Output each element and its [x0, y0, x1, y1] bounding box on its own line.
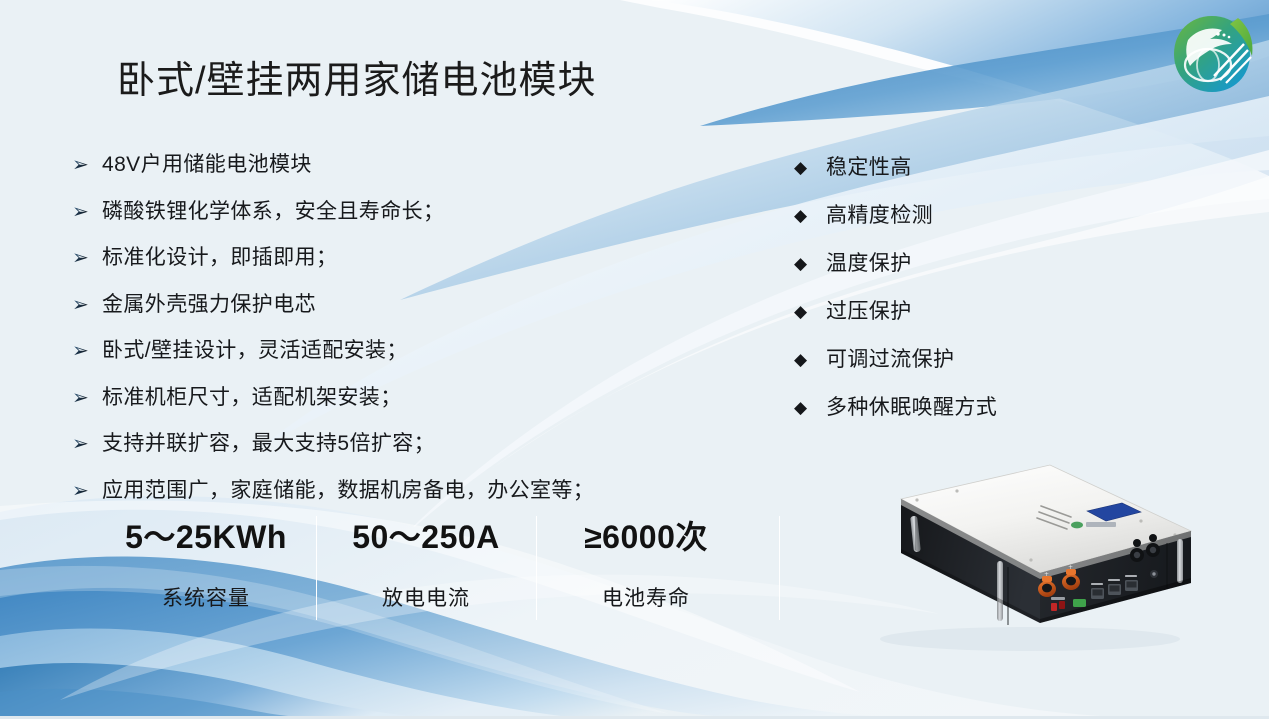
arrow-bullet-icon: ➢: [72, 338, 102, 364]
spec-label: 电池寿命: [602, 586, 690, 612]
list-item: ◆ 多种休眠唤醒方式: [794, 395, 1124, 421]
list-item: ◆ 稳定性高: [794, 155, 1124, 181]
list-item: ➢ 应用范围广，家庭储能，数据机房备电，办公室等；: [72, 478, 712, 504]
list-item-label: 支持并联扩容，最大支持5倍扩容；: [102, 431, 712, 457]
arrow-bullet-icon: ➢: [72, 199, 102, 225]
spec-highlights: 5～25KWh 系统容量 50～250A 放电电流 ≥6000次 电池寿命: [96, 516, 756, 622]
diamond-bullet-icon: ◆: [794, 395, 826, 421]
feature-list-right: ◆ 稳定性高 ◆ 高精度检测 ◆ 温度保护 ◆ 过压保护 ◆ 可调过流保护 ◆ …: [794, 155, 1124, 443]
spec-divider: [316, 516, 317, 620]
arrow-bullet-icon: ➢: [72, 152, 102, 178]
spec-item-cycle-life: ≥6000次 电池寿命: [536, 516, 756, 622]
diamond-bullet-icon: ◆: [794, 299, 826, 325]
page-title: 卧式/壁挂两用家储电池模块: [117, 58, 597, 104]
list-item-label: 48V户用储能电池模块: [102, 152, 712, 178]
diamond-bullet-icon: ◆: [794, 251, 826, 277]
svg-text:+: +: [1068, 564, 1073, 571]
list-item: ➢ 磷酸铁锂化学体系，安全且寿命长；: [72, 199, 712, 225]
list-item-label: 应用范围广，家庭储能，数据机房备电，办公室等；: [102, 478, 712, 504]
slide-canvas: 卧式/壁挂两用家储电池模块 ➢ 48V户用储能电池模块 ➢ 磷酸铁锂化学体系，安…: [0, 0, 1269, 719]
spec-item-capacity: 5～25KWh 系统容量: [96, 516, 316, 622]
list-item: ➢ 支持并联扩容，最大支持5倍扩容；: [72, 431, 712, 457]
list-item: ➢ 金属外壳强力保护电芯: [72, 292, 712, 318]
list-item-label: 可调过流保护: [826, 347, 1124, 373]
company-logo-icon: [1168, 10, 1256, 98]
list-item-label: 过压保护: [826, 299, 1124, 325]
diamond-bullet-icon: ◆: [794, 347, 826, 373]
arrow-bullet-icon: ➢: [72, 385, 102, 411]
spec-value: 50～250A: [352, 518, 500, 556]
diamond-bullet-icon: ◆: [794, 155, 826, 181]
list-item-label: 标准机柜尺寸，适配机架安装；: [102, 385, 712, 411]
list-item: ◆ 温度保护: [794, 251, 1124, 277]
arrow-bullet-icon: ➢: [72, 245, 102, 271]
list-item: ➢ 标准机柜尺寸，适配机架安装；: [72, 385, 712, 411]
feature-list-left: ➢ 48V户用储能电池模块 ➢ 磷酸铁锂化学体系，安全且寿命长； ➢ 标准化设计…: [72, 152, 712, 524]
spec-divider: [536, 516, 537, 620]
spec-label: 系统容量: [162, 586, 250, 612]
arrow-bullet-icon: ➢: [72, 292, 102, 318]
list-item-label: 温度保护: [826, 251, 1124, 277]
spec-label: 放电电流: [382, 586, 470, 612]
spec-value: ≥6000次: [584, 518, 708, 556]
list-item-label: 稳定性高: [826, 155, 1124, 181]
list-item: ➢ 卧式/壁挂设计，灵活适配安装；: [72, 338, 712, 364]
list-item-label: 高精度检测: [826, 203, 1124, 229]
list-item: ◆ 过压保护: [794, 299, 1124, 325]
list-item-label: 磷酸铁锂化学体系，安全且寿命长；: [102, 199, 712, 225]
list-item: ➢ 48V户用储能电池模块: [72, 152, 712, 178]
list-item-label: 标准化设计，即插即用；: [102, 245, 712, 271]
list-item: ➢ 标准化设计，即插即用；: [72, 245, 712, 271]
spec-item-current: 50～250A 放电电流: [316, 516, 536, 622]
list-item-label: 多种休眠唤醒方式: [826, 395, 1124, 421]
arrow-bullet-icon: ➢: [72, 431, 102, 457]
svg-text:+: +: [1044, 571, 1049, 578]
list-item: ◆ 可调过流保护: [794, 347, 1124, 373]
spec-divider: [779, 516, 780, 620]
diamond-bullet-icon: ◆: [794, 203, 826, 229]
arrow-bullet-icon: ➢: [72, 478, 102, 504]
list-item: ◆ 高精度检测: [794, 203, 1124, 229]
spec-value: 5～25KWh: [125, 518, 287, 556]
list-item-label: 卧式/壁挂设计，灵活适配安装；: [102, 338, 712, 364]
product-photo: + +: [845, 443, 1205, 658]
list-item-label: 金属外壳强力保护电芯: [102, 292, 712, 318]
